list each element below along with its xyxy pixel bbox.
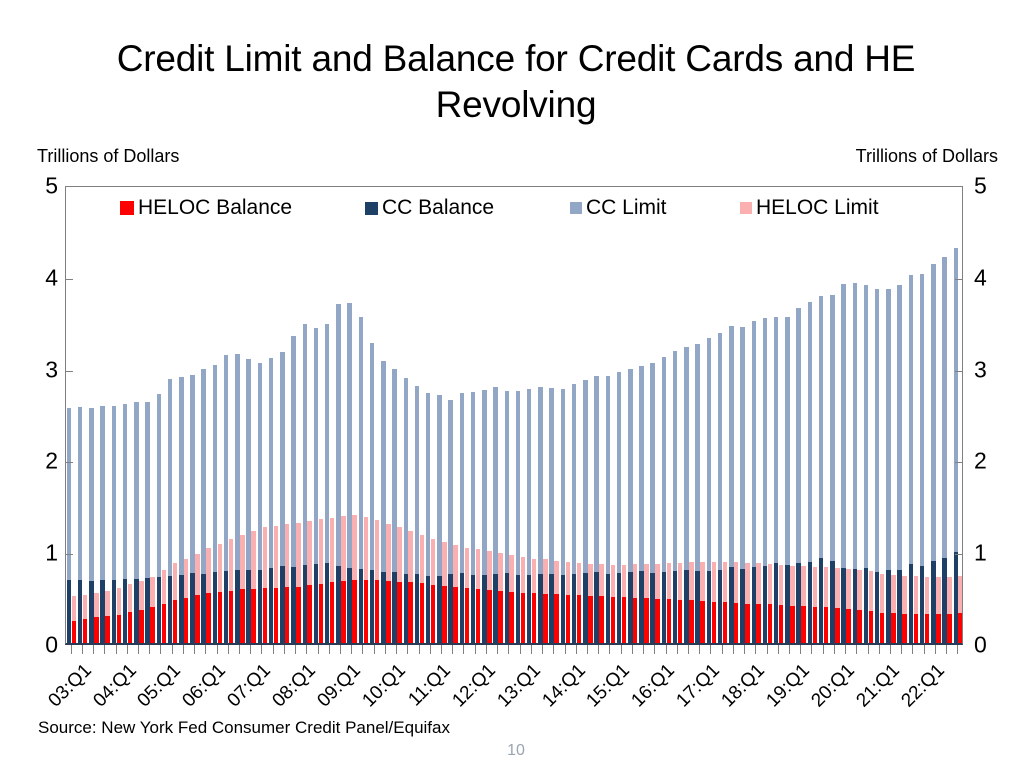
x-axis-tick [722, 645, 723, 654]
chart-bars-layer [66, 187, 962, 643]
bar-cc-balance [415, 574, 419, 643]
legend-item[interactable]: HELOC Balance [120, 196, 292, 220]
x-axis-tick [239, 645, 240, 654]
legend-label: CC Limit [586, 196, 667, 220]
bar-cc-balance [796, 563, 800, 643]
bar-heloc-balance [296, 587, 300, 643]
bar-heloc-balance [386, 581, 390, 643]
x-axis-tick [172, 645, 173, 654]
x-axis-tick [295, 645, 296, 654]
bar-cc-balance [729, 567, 733, 643]
bar-cc-balance [134, 579, 138, 643]
y-axis-tick [955, 371, 962, 372]
bar-heloc-balance [577, 595, 581, 643]
bar-group [369, 187, 380, 643]
bar-heloc-balance [274, 588, 278, 643]
bar-heloc-balance [251, 589, 255, 643]
bar-heloc-balance [319, 584, 323, 643]
bar-group [740, 187, 751, 643]
x-axis-tick [329, 645, 330, 654]
x-axis-tick-label: 06:Q1 [179, 660, 231, 712]
x-axis-tick [632, 645, 633, 654]
bar-heloc-balance [150, 607, 154, 643]
bar-group [504, 187, 515, 643]
x-axis-tick [890, 645, 891, 654]
bar-cc-balance [707, 571, 711, 643]
bar-group [784, 187, 795, 643]
bar-cc-balance [617, 573, 621, 643]
x-axis-tick [823, 645, 824, 654]
x-axis-tick-label: 17:Q1 [673, 660, 725, 712]
bar-heloc-balance [206, 593, 210, 643]
x-axis-tick [879, 645, 880, 654]
bar-group [66, 187, 77, 643]
bar-cc-balance [527, 575, 531, 643]
bar-cc-balance [942, 558, 946, 643]
chart-plot-area [65, 186, 963, 645]
bar-group [560, 187, 571, 643]
bar-heloc-balance [790, 606, 794, 643]
bar-heloc-balance [880, 613, 884, 643]
x-axis-tick [621, 645, 622, 654]
bar-group [133, 187, 144, 643]
x-axis-tick [643, 645, 644, 654]
bar-cc-balance [370, 570, 374, 643]
x-axis-tick [744, 645, 745, 654]
bar-cc-balance [78, 580, 82, 643]
bar-heloc-balance [622, 597, 626, 643]
bar-heloc-balance [869, 611, 873, 643]
legend-label: HELOC Balance [138, 196, 292, 220]
chart-legend: HELOC BalanceCC BalanceCC LimitHELOC Lim… [120, 196, 920, 222]
bar-heloc-balance [83, 619, 87, 643]
x-axis-tick [924, 645, 925, 654]
x-axis-tick [935, 645, 936, 654]
bar-cc-balance [920, 566, 924, 643]
x-axis-tick [250, 645, 251, 654]
bar-group [77, 187, 88, 643]
x-axis-tick-label: 07:Q1 [224, 660, 276, 712]
x-axis-tick-label: 10:Q1 [358, 660, 410, 712]
x-axis-tick-label: 05:Q1 [134, 660, 186, 712]
x-axis-tick [531, 645, 532, 654]
x-axis-tick [733, 645, 734, 654]
y-axis-tick [955, 554, 962, 555]
y-axis-tick-label: 2 [974, 448, 1010, 475]
x-axis-tick-label: 16:Q1 [628, 660, 680, 712]
bar-cc-balance [740, 569, 744, 643]
bar-group [930, 187, 941, 643]
bar-group [246, 187, 257, 643]
bar-heloc-balance [509, 592, 513, 643]
bar-group [874, 187, 885, 643]
bar-group [829, 187, 840, 643]
bar-group [324, 187, 335, 643]
bar-heloc-balance [364, 580, 368, 643]
x-axis-tick [912, 645, 913, 654]
bar-cc-balance [168, 576, 172, 643]
bar-cc-balance [280, 566, 284, 643]
bar-group [279, 187, 290, 643]
y-axis-tick-label: 1 [22, 540, 58, 567]
x-axis-tick [856, 645, 857, 654]
bar-heloc-balance [936, 614, 940, 643]
x-axis-tick [160, 645, 161, 654]
bar-group [751, 187, 762, 643]
x-axis-tick [520, 645, 521, 654]
x-axis-tick [82, 645, 83, 654]
x-axis-tick [430, 645, 431, 654]
bar-group [493, 187, 504, 643]
legend-swatch-icon [570, 202, 582, 214]
y-axis-tick [955, 462, 962, 463]
bar-group [358, 187, 369, 643]
legend-item[interactable]: HELOC Limit [740, 196, 879, 220]
legend-label: CC Balance [382, 196, 494, 220]
x-axis-tick [116, 645, 117, 654]
bar-cc-balance [224, 571, 228, 643]
y-axis-tick-label: 4 [974, 264, 1010, 291]
x-axis-tick [463, 645, 464, 654]
page-number: 10 [0, 742, 1032, 760]
x-axis-tick [497, 645, 498, 654]
bar-heloc-balance [712, 602, 716, 643]
bar-cc-balance [864, 568, 868, 643]
bar-cc-balance [516, 575, 520, 643]
bar-cc-balance [650, 573, 654, 643]
bar-cc-balance [819, 558, 823, 643]
bar-heloc-balance [947, 614, 951, 643]
bar-heloc-balance [611, 597, 615, 643]
x-axis-tick [228, 645, 229, 654]
bar-group [481, 187, 492, 643]
bar-heloc-balance [779, 605, 783, 643]
bar-group [201, 187, 212, 643]
bar-cc-balance [785, 565, 789, 643]
bar-cc-balance [381, 572, 385, 643]
bar-cc-balance [314, 564, 318, 643]
bar-group [414, 187, 425, 643]
x-axis-tick [699, 645, 700, 654]
bar-cc-balance [359, 569, 363, 643]
x-axis-tick [654, 645, 655, 654]
bar-group [347, 187, 358, 643]
bar-group [773, 187, 784, 643]
bar-group [380, 187, 391, 643]
bar-cc-balance [426, 576, 430, 643]
bar-heloc-balance [487, 590, 491, 643]
bar-group [167, 187, 178, 643]
bar-cc-balance [258, 570, 262, 643]
bar-heloc-balance [756, 604, 760, 643]
bar-group [908, 187, 919, 643]
bar-heloc-balance [420, 583, 424, 643]
bar-cc-balance [909, 564, 913, 643]
bar-heloc-balance [442, 586, 446, 643]
bar-cc-balance [235, 570, 239, 643]
bar-cc-balance [404, 574, 408, 643]
x-axis-tick [318, 645, 319, 654]
bar-group [549, 187, 560, 643]
bar-cc-balance [213, 572, 217, 643]
x-axis-tick-label: 12:Q1 [448, 660, 500, 712]
bar-group [807, 187, 818, 643]
bar-cc-balance [594, 572, 598, 643]
bar-heloc-balance [824, 607, 828, 643]
bar-group [841, 187, 852, 643]
bar-heloc-balance [633, 598, 637, 643]
x-axis-tick [508, 645, 509, 654]
x-axis-tick [452, 645, 453, 654]
x-axis-tick [362, 645, 363, 654]
x-axis-tick [340, 645, 341, 654]
bar-heloc-balance [128, 612, 132, 643]
bar-group [291, 187, 302, 643]
bar-group [706, 187, 717, 643]
bar-heloc-balance [162, 604, 166, 643]
legend-label: HELOC Limit [756, 196, 879, 220]
y-axis-tick-label: 2 [22, 448, 58, 475]
x-axis-tick [553, 645, 554, 654]
bar-cc-balance [628, 572, 632, 643]
bar-heloc-balance [285, 587, 289, 643]
bar-group [852, 187, 863, 643]
bar-heloc-balance [195, 595, 199, 643]
bar-heloc-balance [914, 614, 918, 643]
x-axis-tick [576, 645, 577, 654]
x-axis-tick [261, 645, 262, 654]
bar-cc-balance [606, 574, 610, 643]
bar-cc-balance [347, 568, 351, 643]
bar-cc-balance [67, 580, 71, 643]
x-axis-tick [475, 645, 476, 654]
bar-heloc-balance [173, 600, 177, 643]
bar-heloc-balance [925, 614, 929, 643]
bar-heloc-balance [397, 582, 401, 644]
x-axis-tick [755, 645, 756, 654]
bar-heloc-balance [644, 598, 648, 643]
bar-group [111, 187, 122, 643]
y-axis-tick-label: 3 [974, 356, 1010, 383]
x-axis-tick-label: 20:Q1 [807, 660, 859, 712]
bar-heloc-balance [813, 607, 817, 643]
bar-group [178, 187, 189, 643]
bar-heloc-balance [958, 613, 962, 643]
bar-cc-balance [853, 569, 857, 643]
bar-heloc-balance [846, 609, 850, 643]
slide-root: Credit Limit and Balance for Credit Card… [0, 0, 1032, 774]
bar-cc-balance [448, 574, 452, 643]
bar-cc-balance [201, 574, 205, 643]
bar-cc-balance [841, 568, 845, 643]
x-axis-tick-label: 11:Q1 [404, 660, 455, 711]
bar-group [537, 187, 548, 643]
bar-cc-balance [549, 574, 553, 643]
bar-heloc-balance [768, 604, 772, 643]
bar-group [100, 187, 111, 643]
x-axis-tick [71, 645, 72, 654]
x-axis-tick [441, 645, 442, 654]
bar-group [156, 187, 167, 643]
x-axis-tick [598, 645, 599, 654]
bar-heloc-balance [229, 591, 233, 643]
bar-cc-balance [583, 573, 587, 643]
bar-heloc-balance [588, 596, 592, 643]
x-axis-tick [957, 645, 958, 654]
bar-heloc-balance [835, 608, 839, 643]
bar-group [695, 187, 706, 643]
bar-cc-balance [774, 563, 778, 643]
bar-group [605, 187, 616, 643]
bar-cc-balance [246, 570, 250, 643]
bar-group [650, 187, 661, 643]
bar-group [268, 187, 279, 643]
bar-heloc-balance [723, 602, 727, 643]
x-axis-tick [542, 645, 543, 654]
bar-heloc-balance [307, 585, 311, 643]
y-axis-unit-right: Trillions of Dollars [856, 146, 998, 167]
x-axis-tick [789, 645, 790, 654]
x-axis-tick [419, 645, 420, 654]
bar-heloc-balance [498, 591, 502, 643]
x-axis-tick-label: 08:Q1 [269, 660, 321, 712]
bar-heloc-balance [105, 616, 109, 643]
x-axis-tick [194, 645, 195, 654]
bar-cc-balance [325, 563, 329, 643]
bar-group [796, 187, 807, 643]
x-axis-tick [205, 645, 206, 654]
bar-group [257, 187, 268, 643]
x-axis-tick [284, 645, 285, 654]
bar-group [145, 187, 156, 643]
bar-heloc-balance [745, 604, 749, 643]
x-axis-tick [666, 645, 667, 654]
x-axis-tick-label: 04:Q1 [89, 660, 141, 712]
bar-cc-balance [695, 571, 699, 643]
x-axis-tick [138, 645, 139, 654]
bar-cc-balance [931, 561, 935, 643]
bar-cc-balance [482, 575, 486, 643]
x-axis-tick-label: 09:Q1 [313, 660, 365, 712]
source-note: Source: New York Fed Consumer Credit Pan… [38, 718, 450, 738]
bar-cc-balance [303, 565, 307, 643]
bar-heloc-balance [700, 601, 704, 643]
bar-heloc-balance [408, 582, 412, 643]
bar-group [661, 187, 672, 643]
bar-group [313, 187, 324, 643]
y-axis-tick-label: 3 [22, 356, 58, 383]
bar-group [122, 187, 133, 643]
bar-group [425, 187, 436, 643]
x-axis-tick [273, 645, 274, 654]
bar-group [526, 187, 537, 643]
bar-cc-balance [460, 573, 464, 643]
x-axis-tick [407, 645, 408, 654]
legend-item[interactable]: CC Balance [365, 196, 494, 220]
x-axis-tick [93, 645, 94, 654]
bar-group [392, 187, 403, 643]
x-axis-tick [385, 645, 386, 654]
bar-heloc-balance [857, 610, 861, 643]
y-axis-unit-left: Trillions of Dollars [37, 146, 179, 167]
legend-item[interactable]: CC Limit [570, 196, 667, 220]
bar-group [571, 187, 582, 643]
bar-cc-balance [808, 562, 812, 643]
bar-heloc-balance [476, 589, 480, 643]
y-axis-tick-label: 1 [974, 540, 1010, 567]
bar-group [672, 187, 683, 643]
bar-heloc-balance [117, 615, 121, 643]
y-axis-tick [66, 371, 73, 372]
bar-heloc-balance [532, 593, 536, 643]
bar-heloc-balance [667, 599, 671, 643]
x-axis-tick-label: 15:Q1 [583, 660, 635, 712]
bar-heloc-balance [566, 595, 570, 643]
bar-cc-balance [561, 575, 565, 643]
bar-cc-balance [123, 579, 127, 643]
y-axis-tick [66, 462, 73, 463]
x-axis-tick [767, 645, 768, 654]
bar-heloc-balance [689, 600, 693, 643]
bar-cc-balance [471, 575, 475, 643]
x-axis-tick-label: 22:Q1 [897, 660, 949, 712]
y-axis-tick-label: 5 [974, 173, 1010, 200]
bar-group [403, 187, 414, 643]
bar-cc-balance [897, 570, 901, 643]
bar-cc-balance [954, 552, 958, 643]
bar-cc-balance [112, 580, 116, 643]
bar-group [627, 187, 638, 643]
bar-group [459, 187, 470, 643]
x-axis-tick-label: 18:Q1 [718, 660, 770, 712]
bar-heloc-balance [801, 606, 805, 643]
x-axis-tick [374, 645, 375, 654]
bar-heloc-balance [184, 598, 188, 643]
bar-cc-balance [157, 577, 161, 643]
x-axis-tick [396, 645, 397, 654]
bar-group [897, 187, 908, 643]
bar-group [953, 187, 962, 643]
x-axis-tick [183, 645, 184, 654]
x-axis-tick [149, 645, 150, 654]
x-axis-tick [565, 645, 566, 654]
x-axis-tick [688, 645, 689, 654]
bar-cc-balance [190, 573, 194, 643]
bar-heloc-balance [734, 603, 738, 643]
bar-group [818, 187, 829, 643]
bar-heloc-balance [655, 599, 659, 643]
bar-group [212, 187, 223, 643]
x-axis-tick [800, 645, 801, 654]
x-axis-tick-label: 13:Q1 [493, 660, 545, 712]
x-axis-tick-label: 19:Q1 [762, 660, 814, 712]
y-axis-tick-label: 5 [22, 173, 58, 200]
bar-heloc-balance [554, 594, 558, 643]
bar-heloc-balance [465, 588, 469, 643]
x-axis-tick [609, 645, 610, 654]
bar-heloc-balance [218, 592, 222, 643]
legend-swatch-icon [740, 202, 752, 214]
x-axis-tick [845, 645, 846, 654]
x-axis-tick [127, 645, 128, 654]
bar-group [616, 187, 627, 643]
x-axis-tick [901, 645, 902, 654]
bar-group [189, 187, 200, 643]
bar-cc-balance [89, 581, 93, 643]
bar-heloc-balance [341, 581, 345, 643]
bar-cc-balance [886, 570, 890, 643]
bar-group [683, 187, 694, 643]
